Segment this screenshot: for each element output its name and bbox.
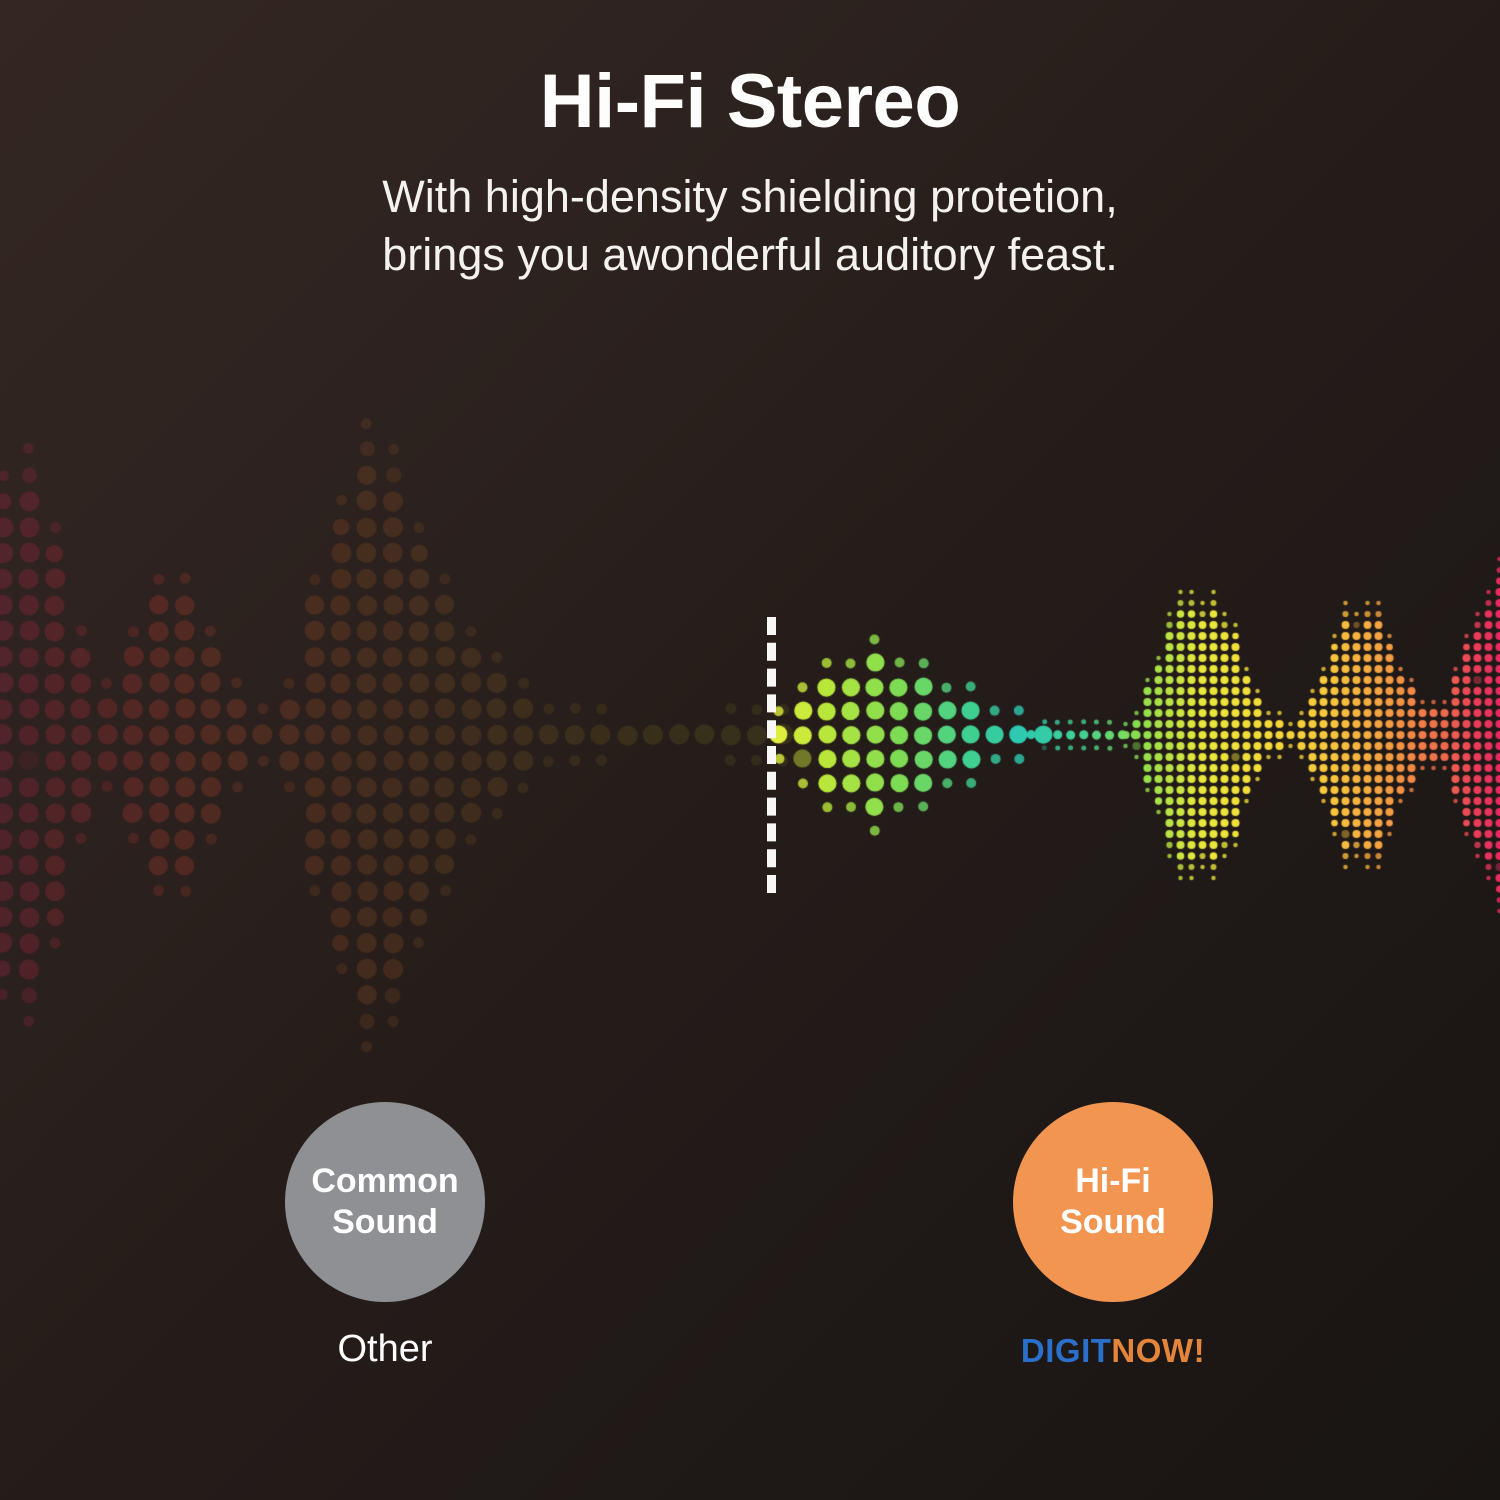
common-sound-line1: Common — [311, 1161, 458, 1202]
common-sound-circle: Common Sound — [285, 1102, 485, 1302]
dashed-divider — [767, 617, 776, 893]
hifi-sound-line2: Sound — [1060, 1202, 1166, 1243]
page-subtitle: With high-density shielding protetion, b… — [0, 142, 1500, 285]
brand-logo: DIGITNOW! — [1013, 1332, 1213, 1370]
hifi-sound-line1: Hi-Fi — [1075, 1161, 1151, 1202]
header-block: Hi-Fi Stereo With high-density shielding… — [0, 0, 1500, 285]
logo-text-secondary: NOW! — [1111, 1332, 1205, 1369]
common-sound-caption: Other — [285, 1328, 485, 1371]
page-title: Hi-Fi Stereo — [0, 0, 1500, 142]
badge-common-sound: Common Sound Other — [285, 1102, 485, 1371]
logo-text-primary: DIGIT — [1021, 1332, 1112, 1369]
badge-hifi-sound: Hi-Fi Sound DIGITNOW! — [1013, 1102, 1213, 1370]
hifi-sound-circle: Hi-Fi Sound — [1013, 1102, 1213, 1302]
common-sound-line2: Sound — [332, 1202, 438, 1243]
promo-graphic: Hi-Fi Stereo With high-density shielding… — [0, 0, 1500, 1500]
